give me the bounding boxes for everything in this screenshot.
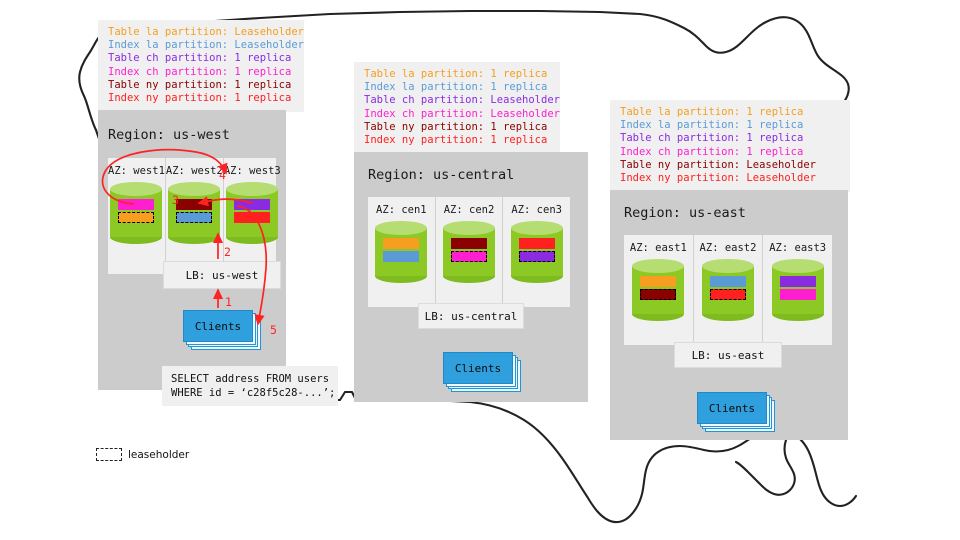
partition-replica-leaseholder [176,212,212,223]
database-node-cylinder [702,259,754,321]
config-line: Index ny partition: Leaseholder [620,172,842,185]
config-line: Table ny partition: 1 replica [108,79,296,92]
partition-replica [383,251,419,262]
az-strip-us-east: AZ: east1AZ: east2AZ: east3 [624,235,832,345]
database-node-cylinder [110,182,162,244]
database-node-cylinder [632,259,684,321]
az-label: AZ: east2 [700,242,757,254]
partition-replica-leaseholder [519,251,555,262]
flow-step-number: 2 [224,245,231,259]
az-strip-us-west: AZ: west1AZ: west2AZ: west3 [108,158,276,274]
partition-replica-leaseholder [710,289,746,300]
config-line: Table ch partition: 1 replica [108,52,296,65]
partition-replica [710,276,746,287]
lb-box-us-east[interactable]: LB: us-east [674,342,782,368]
lb-box-us-west[interactable]: LB: us-west [163,261,281,289]
partition-replica-leaseholder [118,212,154,223]
sql-query-note: SELECT address FROM users WHERE id = ‘c2… [162,366,338,406]
partition-replica [640,276,676,287]
az-cell: AZ: west1 [108,158,166,274]
clients-label: Clients [183,310,253,342]
config-line: Table la partition: 1 replica [364,68,552,81]
config-box-us-central: Table la partition: 1 replicaIndex la pa… [354,62,560,154]
partition-replica [234,212,270,223]
diagram-stage: Table la partition: LeaseholderIndex la … [0,0,960,540]
cylinder-top [702,259,754,273]
clients-label: Clients [697,392,767,424]
az-label: AZ: cen2 [444,204,495,216]
lb-box-us-central[interactable]: LB: us-central [418,303,524,329]
config-line: Index la partition: 1 replica [364,81,552,94]
cylinder-top [443,221,495,235]
legend-leaseholder: leaseholder [96,448,189,461]
flow-step-number: 4 [219,168,226,182]
config-line: Table la partition: Leaseholder [108,26,296,39]
az-label: AZ: east1 [630,242,687,254]
cylinder-top [226,182,278,196]
flow-step-number: 3 [172,193,179,207]
az-cell: AZ: cen1 [368,197,436,307]
az-label: AZ: west3 [224,165,281,177]
az-cell: AZ: cen3 [503,197,570,307]
az-cell: AZ: east3 [763,235,832,345]
cylinder-top [375,221,427,235]
az-label: AZ: west2 [166,165,223,177]
partition-replica [383,238,419,249]
config-line: Index ch partition: 1 replica [108,66,296,79]
flow-step-number: 5 [270,323,277,337]
config-line: Table ny partition: 1 replica [364,121,552,134]
clients-box-us-west[interactable]: Clients [183,310,253,342]
partition-replica [780,289,816,300]
cylinder-top [511,221,563,235]
config-line: Table la partition: 1 replica [620,106,842,119]
database-node-cylinder [772,259,824,321]
az-cell: AZ: west3 [224,158,281,274]
cylinder-top [772,259,824,273]
az-cell: AZ: cen2 [436,197,504,307]
config-line: Index ch partition: 1 replica [620,146,842,159]
partition-replica-leaseholder [640,289,676,300]
partition-replica [519,238,555,249]
database-node-cylinder [511,221,563,283]
partition-replica [118,199,154,210]
region-title-us-central: Region: us-central [368,167,514,183]
database-node-cylinder [226,182,278,244]
sql-line-1: SELECT address FROM users [171,373,329,385]
partition-replica [234,199,270,210]
region-title-us-east: Region: us-east [624,205,746,221]
az-cell: AZ: east1 [624,235,694,345]
az-label: AZ: cen3 [511,204,562,216]
dashed-box-icon [96,448,122,461]
az-strip-us-central: AZ: cen1AZ: cen2AZ: cen3 [368,197,570,307]
clients-box-us-central[interactable]: Clients [443,352,513,384]
region-title-us-west: Region: us-west [108,127,230,143]
az-label: AZ: cen1 [376,204,427,216]
partition-replica [176,199,212,210]
az-label: AZ: east3 [769,242,826,254]
config-line: Table ch partition: 1 replica [620,132,842,145]
config-line: Table ny partition: Leaseholder [620,159,842,172]
cylinder-top [632,259,684,273]
config-line: Index la partition: Leaseholder [108,39,296,52]
database-node-cylinder [443,221,495,283]
clients-label: Clients [443,352,513,384]
partition-replica [780,276,816,287]
flow-step-number: 1 [225,295,232,309]
config-box-us-east: Table la partition: 1 replicaIndex la pa… [610,100,850,192]
database-node-cylinder [375,221,427,283]
clients-box-us-east[interactable]: Clients [697,392,767,424]
sql-line-2: WHERE id = ‘c28f5c28-...’; [171,387,335,399]
az-cell: AZ: east2 [694,235,764,345]
database-node-cylinder [168,182,220,244]
legend-label: leaseholder [128,449,189,461]
config-line: Index la partition: 1 replica [620,119,842,132]
config-line: Table ch partition: Leaseholder [364,94,552,107]
config-line: Index ny partition: 1 replica [108,92,296,105]
az-label: AZ: west1 [108,165,165,177]
config-line: Index ny partition: 1 replica [364,134,552,147]
partition-replica-leaseholder [451,251,487,262]
config-line: Index ch partition: Leaseholder [364,108,552,121]
az-cell: AZ: west2 [166,158,224,274]
config-box-us-west: Table la partition: LeaseholderIndex la … [98,20,304,112]
partition-replica [451,238,487,249]
